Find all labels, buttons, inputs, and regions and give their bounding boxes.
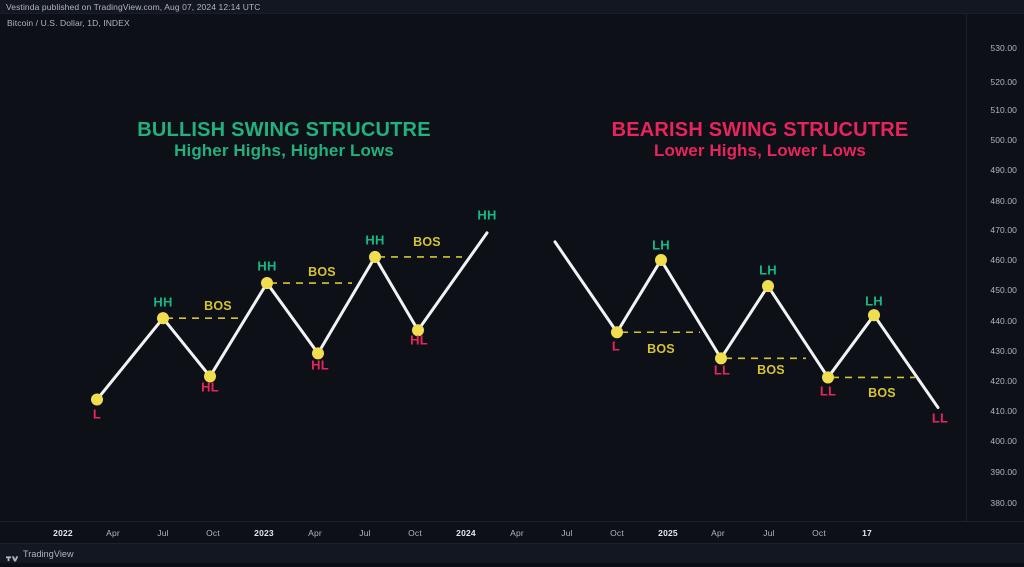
swing-point-label: HL xyxy=(410,333,428,348)
price-tick: 480.00 xyxy=(990,196,1017,206)
price-tick: 510.00 xyxy=(990,105,1017,115)
price-tick: 390.00 xyxy=(990,467,1017,477)
heading-bearish: BEARISH SWING STRUCUTRELower Highs, Lowe… xyxy=(612,119,909,160)
price-tick: 520.00 xyxy=(990,77,1017,87)
time-tick: 17 xyxy=(862,528,872,538)
heading-bullish: BULLISH SWING STRUCUTREHigher Highs, Hig… xyxy=(137,119,430,160)
heading-title: BEARISH SWING STRUCUTRE xyxy=(612,119,909,141)
time-tick: Oct xyxy=(408,528,422,538)
swing-point-dot[interactable] xyxy=(611,326,623,338)
time-tick: Apr xyxy=(308,528,322,538)
bos-label: BOS xyxy=(204,299,232,313)
time-axis[interactable]: 2022AprJulOct2023AprJulOct2024AprJulOct2… xyxy=(0,521,1024,543)
swing-point-dot[interactable] xyxy=(868,309,880,321)
bos-label: BOS xyxy=(308,265,336,279)
time-tick: Jul xyxy=(359,528,370,538)
swing-point-label: L xyxy=(612,339,620,354)
swing-point-dot[interactable] xyxy=(157,312,169,324)
swing-point-label: LH xyxy=(865,294,883,309)
price-tick: 470.00 xyxy=(990,225,1017,235)
price-tick: 420.00 xyxy=(990,376,1017,386)
time-tick: Oct xyxy=(812,528,826,538)
swing-point-label: HH xyxy=(257,259,276,274)
swing-point-label: HH xyxy=(477,208,496,223)
swing-structure-drawing xyxy=(0,14,966,521)
time-tick: Oct xyxy=(610,528,624,538)
symbol-legend[interactable]: Bitcoin / U.S. Dollar, 1D, INDEX xyxy=(7,18,130,28)
price-tick: 380.00 xyxy=(990,498,1017,508)
bottom-bar: TradingView xyxy=(0,543,1024,563)
heading-subtitle: Lower Highs, Lower Lows xyxy=(612,141,909,160)
price-tick: 490.00 xyxy=(990,165,1017,175)
bos-label: BOS xyxy=(413,235,441,249)
swing-point-label: HH xyxy=(153,295,172,310)
time-tick: Apr xyxy=(106,528,120,538)
heading-subtitle: Higher Highs, Higher Lows xyxy=(137,141,430,160)
swing-point-dot[interactable] xyxy=(762,280,774,292)
time-tick: 2024 xyxy=(456,528,476,538)
time-tick: 2022 xyxy=(53,528,73,538)
swing-point-dot[interactable] xyxy=(822,371,834,383)
time-tick: Apr xyxy=(711,528,725,538)
swing-zigzag-line xyxy=(97,233,487,400)
swing-point-label: LL xyxy=(932,411,948,426)
price-tick: 410.00 xyxy=(990,406,1017,416)
time-tick: 2025 xyxy=(658,528,678,538)
time-tick: Apr xyxy=(510,528,524,538)
time-tick: Oct xyxy=(206,528,220,538)
swing-zigzag-line xyxy=(555,242,938,408)
tradingview-logo-icon xyxy=(6,549,19,558)
bos-label: BOS xyxy=(757,363,785,377)
chart-frame: Bitcoin / U.S. Dollar, 1D, INDEX BULLISH… xyxy=(0,14,1024,521)
swing-point-label: HL xyxy=(201,380,219,395)
swing-point-label: HL xyxy=(311,358,329,373)
tradingview-logo-text: TradingView xyxy=(23,549,74,559)
swing-point-label: LH xyxy=(652,238,670,253)
time-tick: Jul xyxy=(561,528,572,538)
price-axis[interactable]: 530.00520.00510.00500.00490.00480.00470.… xyxy=(966,14,1024,521)
swing-point-dot[interactable] xyxy=(91,393,103,405)
swing-point-dot[interactable] xyxy=(655,254,667,266)
time-tick: Jul xyxy=(763,528,774,538)
publisher-bar: Vestinda published on TradingView.com, A… xyxy=(0,0,1024,14)
swing-point-label: LH xyxy=(759,263,777,278)
price-tick: 450.00 xyxy=(990,285,1017,295)
price-tick: 400.00 xyxy=(990,436,1017,446)
price-tick: 440.00 xyxy=(990,316,1017,326)
swing-point-label: LL xyxy=(820,384,836,399)
chart-pane[interactable]: Bitcoin / U.S. Dollar, 1D, INDEX BULLISH… xyxy=(0,14,966,521)
swing-point-label: HH xyxy=(365,233,384,248)
swing-point-dot[interactable] xyxy=(369,251,381,263)
time-tick: 2023 xyxy=(254,528,274,538)
price-tick: 430.00 xyxy=(990,346,1017,356)
price-tick: 530.00 xyxy=(990,43,1017,53)
price-tick: 500.00 xyxy=(990,135,1017,145)
tradingview-chart-app: Vestinda published on TradingView.com, A… xyxy=(0,0,1024,563)
swing-point-dot[interactable] xyxy=(261,277,273,289)
bos-label: BOS xyxy=(868,386,896,400)
swing-point-label: LL xyxy=(714,363,730,378)
heading-title: BULLISH SWING STRUCUTRE xyxy=(137,119,430,141)
bos-label: BOS xyxy=(647,342,675,356)
time-tick: Jul xyxy=(157,528,168,538)
publisher-text: Vestinda published on TradingView.com, A… xyxy=(6,2,261,12)
price-tick: 460.00 xyxy=(990,255,1017,265)
swing-point-label: L xyxy=(93,407,101,422)
